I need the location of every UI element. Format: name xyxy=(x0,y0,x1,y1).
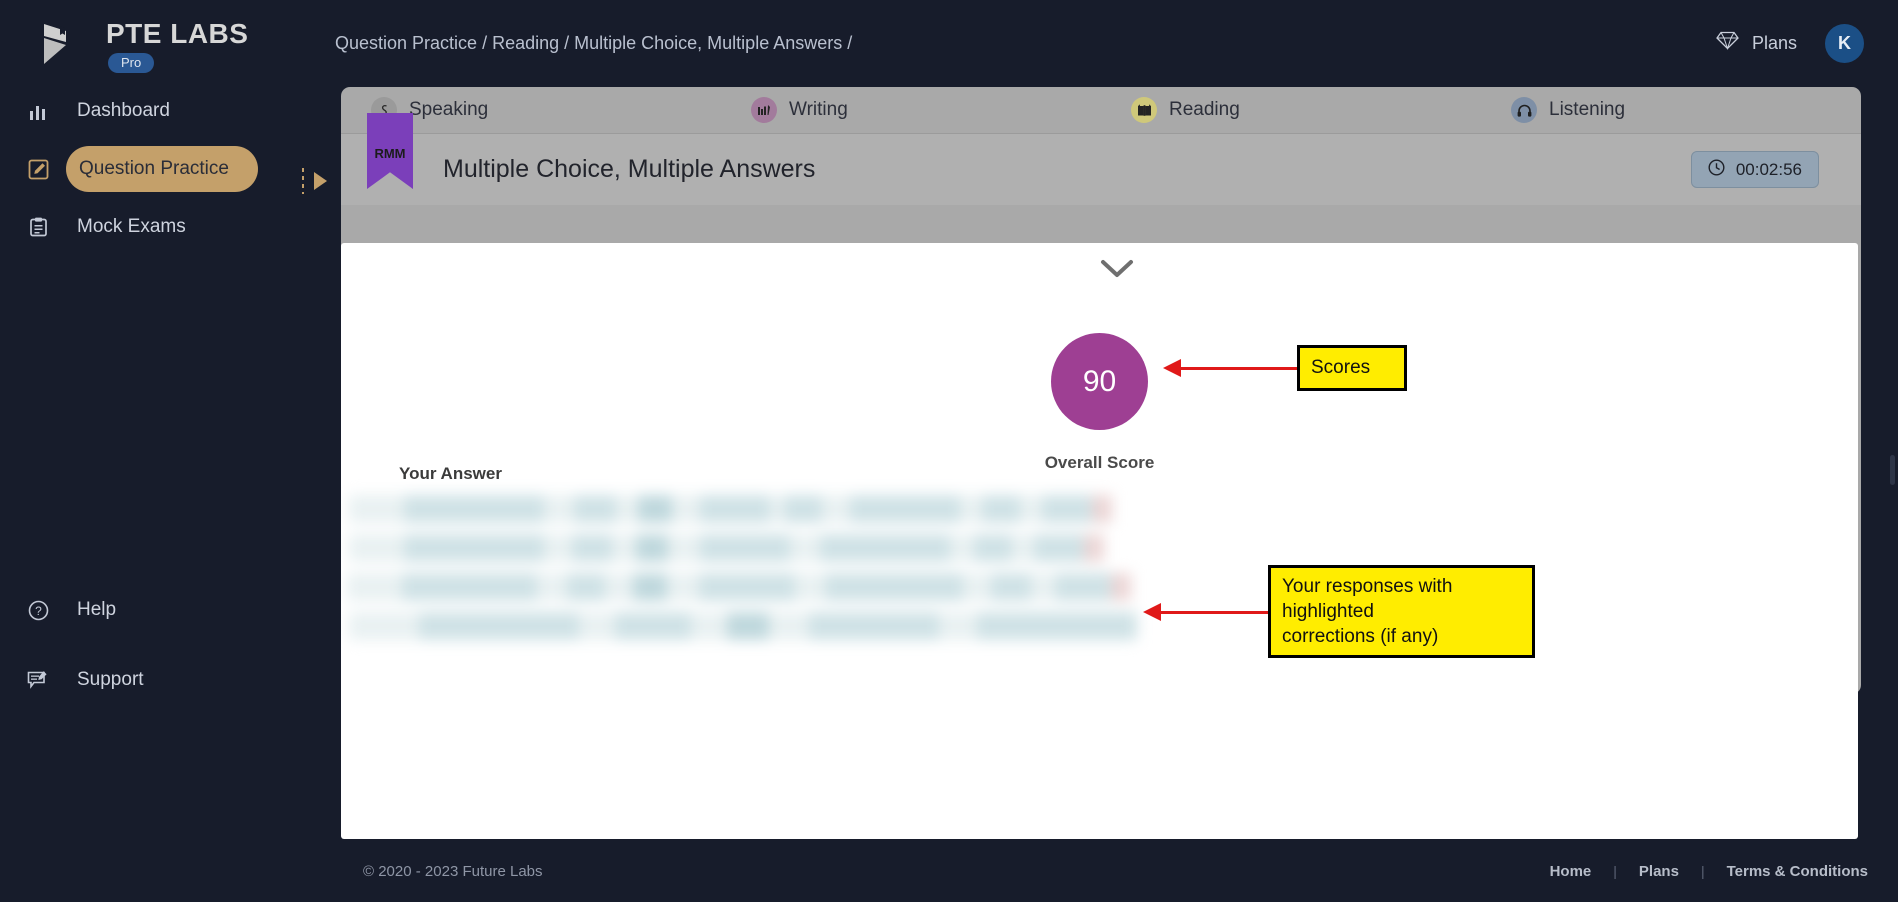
sidebar-item-label: Support xyxy=(77,669,144,691)
tab-listening[interactable]: Listening xyxy=(1481,97,1861,123)
overall-score-label: Overall Score xyxy=(1045,453,1155,473)
question-header: RMM Multiple Choice, Multiple Answers 00… xyxy=(341,133,1861,205)
topbar-actions: Plans K xyxy=(1716,24,1864,63)
overall-score-circle: 90 xyxy=(1051,333,1148,430)
footer-link-home[interactable]: Home xyxy=(1550,863,1592,880)
bar-chart-icon xyxy=(21,102,55,121)
tab-label: Reading xyxy=(1169,99,1240,121)
sidebar-nav-bottom: ? Help Support xyxy=(0,587,335,727)
breadcrumb: Question Practice / Reading / Multiple C… xyxy=(335,33,852,54)
timer[interactable]: 00:02:56 xyxy=(1691,151,1819,188)
tab-label: Speaking xyxy=(409,99,488,121)
result-panel: 90 Overall Score Your Answer xyxy=(341,243,1858,839)
topbar: Question Practice / Reading / Multiple C… xyxy=(335,0,1898,86)
reading-icon xyxy=(1131,97,1157,123)
redacted-line xyxy=(349,534,1858,562)
sidebar: PTE LABS Pro Dashboard xyxy=(0,0,335,902)
question-circle-icon: ? xyxy=(21,600,55,621)
brand-logo[interactable]: PTE LABS Pro xyxy=(34,18,248,74)
sidebar-item-support[interactable]: Support xyxy=(0,657,335,703)
sidebar-item-label: Mock Exams xyxy=(77,216,186,238)
sidebar-item-help[interactable]: ? Help xyxy=(0,587,335,633)
copyright: © 2020 - 2023 Future Labs xyxy=(363,863,543,880)
scores-callout-box: Scores xyxy=(1297,345,1407,391)
scrollbar-thumb[interactable] xyxy=(1890,455,1895,485)
diamond-icon xyxy=(1716,31,1739,55)
svg-text:?: ? xyxy=(35,604,42,618)
sidebar-item-mock-exams[interactable]: Mock Exams xyxy=(0,204,335,250)
app-root: PTE LABS Pro Dashboard xyxy=(0,0,1898,902)
overall-score-block: 90 Overall Score xyxy=(341,333,1858,473)
sidebar-collapse-toggle[interactable] xyxy=(302,168,327,194)
tab-reading[interactable]: Reading xyxy=(1101,97,1481,123)
question-title: Multiple Choice, Multiple Answers xyxy=(443,155,815,184)
chevron-down-icon[interactable] xyxy=(1100,258,1134,285)
tab-label: Listening xyxy=(1549,99,1625,121)
book-flag-logo-icon xyxy=(34,18,90,74)
footer-separator: | xyxy=(1701,863,1705,879)
expand-right-arrow-icon[interactable] xyxy=(314,172,327,190)
responses-callout-arrow xyxy=(1160,611,1268,614)
footer-separator: | xyxy=(1613,863,1617,879)
plans-label: Plans xyxy=(1752,33,1797,54)
redacted-line xyxy=(347,573,1858,601)
footer: © 2020 - 2023 Future Labs Home | Plans |… xyxy=(335,840,1898,902)
edit-square-icon xyxy=(21,159,55,180)
clock-icon xyxy=(1708,159,1725,181)
footer-link-terms[interactable]: Terms & Conditions xyxy=(1727,863,1868,880)
drag-handle[interactable] xyxy=(302,168,304,194)
footer-links: Home | Plans | Terms & Conditions xyxy=(1550,863,1868,880)
responses-callout-line-1: Your responses with xyxy=(1282,574,1521,599)
sidebar-item-label: Dashboard xyxy=(77,100,170,122)
tab-writing[interactable]: Writing xyxy=(721,97,1101,123)
brand-badge: Pro xyxy=(108,53,154,73)
redacted-answer-content xyxy=(341,495,1858,651)
listening-icon xyxy=(1511,97,1537,123)
writing-icon xyxy=(751,97,777,123)
redacted-line xyxy=(349,612,1858,640)
responses-callout-box: Your responses with highlighted correcti… xyxy=(1268,565,1535,658)
plans-button[interactable]: Plans xyxy=(1716,31,1797,55)
sidebar-item-question-practice[interactable]: Question Practice xyxy=(0,146,335,192)
footer-link-plans[interactable]: Plans xyxy=(1639,863,1679,880)
responses-callout-line-3: corrections (if any) xyxy=(1282,624,1521,649)
your-answer-label: Your Answer xyxy=(399,464,502,484)
scores-callout-text: Scores xyxy=(1311,355,1370,380)
chat-edit-icon xyxy=(21,670,55,691)
sidebar-item-label: Help xyxy=(77,599,116,621)
sidebar-item-label: Question Practice xyxy=(79,158,229,180)
question-type-badge: RMM xyxy=(367,113,413,189)
scores-callout-arrow xyxy=(1180,367,1298,370)
tab-label: Writing xyxy=(789,99,848,121)
responses-callout-line-2: highlighted xyxy=(1282,599,1521,624)
sidebar-item-dashboard[interactable]: Dashboard xyxy=(0,88,335,134)
timer-value: 00:02:56 xyxy=(1736,160,1802,180)
redacted-line xyxy=(349,495,1858,523)
skill-tabs: Speaking Writing xyxy=(341,87,1861,133)
clipboard-icon xyxy=(21,217,55,237)
avatar[interactable]: K xyxy=(1825,24,1864,63)
sidebar-nav: Dashboard Question Practice xyxy=(0,88,335,262)
brand-name: PTE LABS xyxy=(106,20,248,48)
